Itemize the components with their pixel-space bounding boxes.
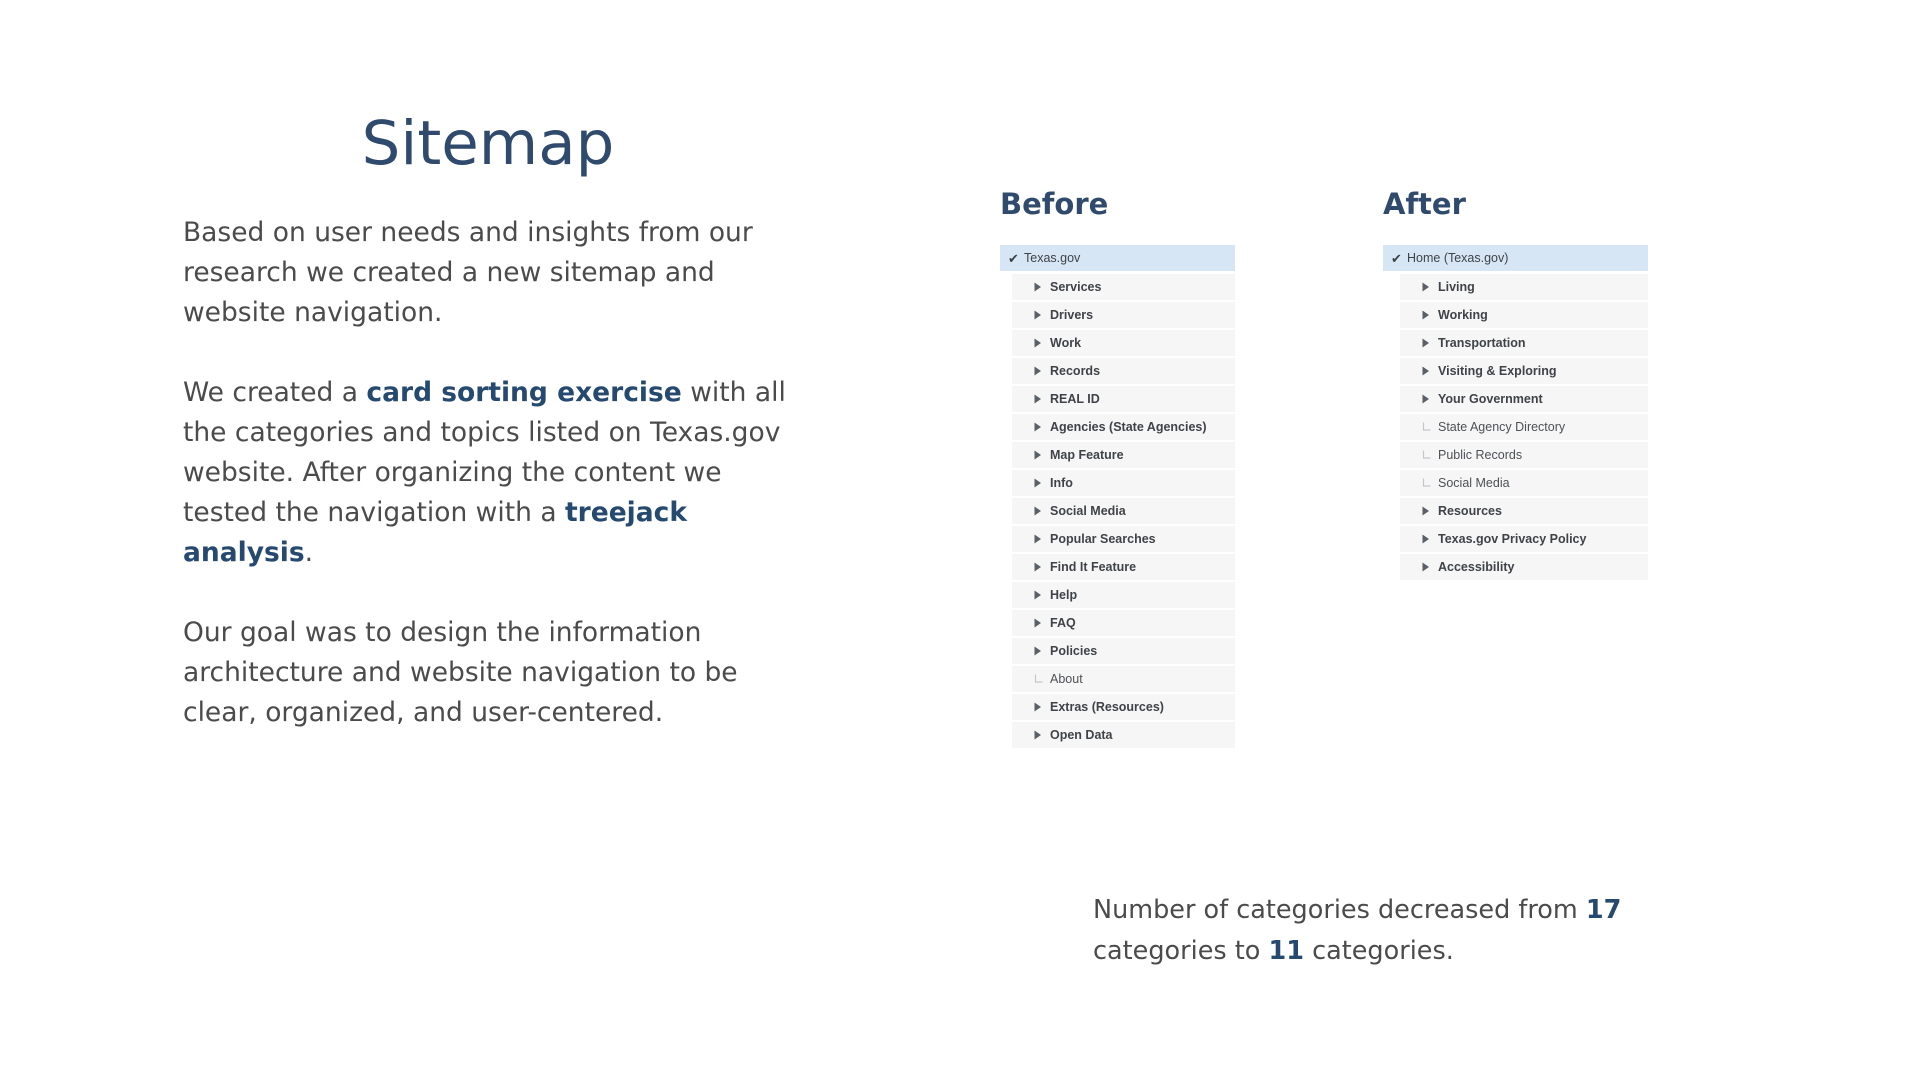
tree-row-label: Find It Feature	[1050, 560, 1136, 574]
tree-row[interactable]: Living	[1400, 274, 1648, 300]
highlighted-term: card sorting exercise	[366, 377, 681, 408]
summary-caption: Number of categories decreased from 17 c…	[1093, 890, 1653, 972]
tree-row[interactable]: About	[1012, 666, 1235, 692]
tree-row[interactable]: Extras (Resources)	[1012, 694, 1235, 720]
elbow-icon	[1422, 450, 1438, 460]
tree-row-label: Public Records	[1438, 448, 1522, 462]
text-run: Number of categories decreased from	[1093, 895, 1586, 925]
text-run: categories to	[1093, 936, 1268, 966]
caret-right-icon	[1422, 562, 1438, 572]
caret-right-icon	[1034, 646, 1050, 656]
tree-root-row[interactable]: ✔Texas.gov	[1000, 245, 1235, 271]
caret-right-icon	[1034, 534, 1050, 544]
tree-row-label: Working	[1438, 308, 1488, 322]
caret-right-icon	[1034, 394, 1050, 404]
check-icon: ✔	[1391, 252, 1407, 265]
tree-row-label: Popular Searches	[1050, 532, 1156, 546]
caret-right-icon	[1034, 338, 1050, 348]
caret-right-icon	[1034, 366, 1050, 376]
tree-row-label: Home (Texas.gov)	[1407, 251, 1508, 265]
tree-row-label: Transportation	[1438, 336, 1526, 350]
caret-right-icon	[1034, 562, 1050, 572]
highlighted-number: 11	[1268, 936, 1304, 966]
tree-row[interactable]: Records	[1012, 358, 1235, 384]
tree-row-label: Help	[1050, 588, 1077, 602]
tree-row-label: State Agency Directory	[1438, 420, 1565, 434]
text-run: We created a	[183, 377, 366, 408]
tree-row[interactable]: Resources	[1400, 498, 1648, 524]
tree-row[interactable]: Find It Feature	[1012, 554, 1235, 580]
tree-row-label: Visiting & Exploring	[1438, 364, 1557, 378]
tree-row[interactable]: Accessibility	[1400, 554, 1648, 580]
tree-row-label: Policies	[1050, 644, 1097, 658]
paragraph-2: We created a card sorting exercise with …	[183, 373, 793, 573]
tree-row[interactable]: REAL ID	[1012, 386, 1235, 412]
tree-row-label: Social Media	[1438, 476, 1510, 490]
caret-right-icon	[1422, 282, 1438, 292]
text-run: .	[305, 537, 313, 568]
caret-right-icon	[1034, 282, 1050, 292]
tree-row-label: Extras (Resources)	[1050, 700, 1164, 714]
tree-row-label: About	[1050, 672, 1083, 686]
caret-right-icon	[1034, 702, 1050, 712]
body-text-block: Based on user needs and insights from ou…	[183, 213, 793, 733]
tree-row[interactable]: Public Records	[1400, 442, 1648, 468]
tree-row-label: Info	[1050, 476, 1073, 490]
tree-row[interactable]: Your Government	[1400, 386, 1648, 412]
tree-root-row[interactable]: ✔Home (Texas.gov)	[1383, 245, 1648, 271]
elbow-icon	[1034, 674, 1050, 684]
tree-row[interactable]: Working	[1400, 302, 1648, 328]
tree-row[interactable]: Social Media	[1012, 498, 1235, 524]
tree-row-label: Map Feature	[1050, 448, 1124, 462]
tree-row-label: Resources	[1438, 504, 1502, 518]
tree-row-label: Work	[1050, 336, 1081, 350]
highlighted-number: 17	[1586, 895, 1622, 925]
tree-row[interactable]: State Agency Directory	[1400, 414, 1648, 440]
tree-row[interactable]: Drivers	[1012, 302, 1235, 328]
page-title: Sitemap	[183, 110, 793, 177]
caret-right-icon	[1422, 310, 1438, 320]
tree-row-label: Open Data	[1050, 728, 1113, 742]
content-column: Sitemap Based on user needs and insights…	[183, 110, 793, 733]
tree-row[interactable]: Agencies (State Agencies)	[1012, 414, 1235, 440]
tree-row[interactable]: Open Data	[1012, 722, 1235, 748]
tree-row[interactable]: Texas.gov Privacy Policy	[1400, 526, 1648, 552]
after-tree: ✔Home (Texas.gov)LivingWorkingTransporta…	[1383, 245, 1648, 582]
caret-right-icon	[1034, 450, 1050, 460]
tree-row-label: Social Media	[1050, 504, 1126, 518]
caret-right-icon	[1034, 422, 1050, 432]
tree-row-label: Records	[1050, 364, 1100, 378]
text-run: Based on user needs and insights from ou…	[183, 217, 753, 328]
before-heading: Before	[1000, 190, 1235, 219]
tree-row[interactable]: Social Media	[1400, 470, 1648, 496]
tree-row[interactable]: Popular Searches	[1012, 526, 1235, 552]
tree-row-label: Services	[1050, 280, 1101, 294]
tree-row-label: Drivers	[1050, 308, 1093, 322]
tree-row[interactable]: FAQ	[1012, 610, 1235, 636]
tree-row-label: Texas.gov	[1024, 251, 1080, 265]
text-run: Our goal was to design the information a…	[183, 617, 738, 728]
caret-right-icon	[1422, 338, 1438, 348]
check-icon: ✔	[1008, 252, 1024, 265]
caret-right-icon	[1422, 534, 1438, 544]
paragraph-1: Based on user needs and insights from ou…	[183, 213, 793, 333]
paragraph-3: Our goal was to design the information a…	[183, 613, 793, 733]
before-column: Before ✔Texas.govServicesDriversWorkReco…	[1000, 190, 1235, 750]
before-tree: ✔Texas.govServicesDriversWorkRecordsREAL…	[1000, 245, 1235, 750]
elbow-icon	[1422, 478, 1438, 488]
after-heading: After	[1383, 190, 1648, 219]
caret-right-icon	[1034, 478, 1050, 488]
tree-row-label: Texas.gov Privacy Policy	[1438, 532, 1586, 546]
tree-row-label: REAL ID	[1050, 392, 1100, 406]
caret-right-icon	[1034, 310, 1050, 320]
caret-right-icon	[1034, 506, 1050, 516]
tree-row-label: Accessibility	[1438, 560, 1514, 574]
tree-row-label: FAQ	[1050, 616, 1076, 630]
tree-row-label: Living	[1438, 280, 1475, 294]
tree-row[interactable]: Visiting & Exploring	[1400, 358, 1648, 384]
tree-row[interactable]: Policies	[1012, 638, 1235, 664]
tree-row[interactable]: Transportation	[1400, 330, 1648, 356]
tree-row[interactable]: Services	[1012, 274, 1235, 300]
after-column: After ✔Home (Texas.gov)LivingWorkingTran…	[1383, 190, 1648, 582]
tree-row[interactable]: Map Feature	[1012, 442, 1235, 468]
tree-row[interactable]: Help	[1012, 582, 1235, 608]
caret-right-icon	[1034, 618, 1050, 628]
caret-right-icon	[1034, 730, 1050, 740]
tree-row[interactable]: Info	[1012, 470, 1235, 496]
tree-row[interactable]: Work	[1012, 330, 1235, 356]
caret-right-icon	[1034, 590, 1050, 600]
caret-right-icon	[1422, 506, 1438, 516]
elbow-icon	[1422, 422, 1438, 432]
caret-right-icon	[1422, 366, 1438, 376]
caret-right-icon	[1422, 394, 1438, 404]
tree-row-label: Your Government	[1438, 392, 1543, 406]
text-run: categories.	[1304, 936, 1454, 966]
tree-row-label: Agencies (State Agencies)	[1050, 420, 1207, 434]
